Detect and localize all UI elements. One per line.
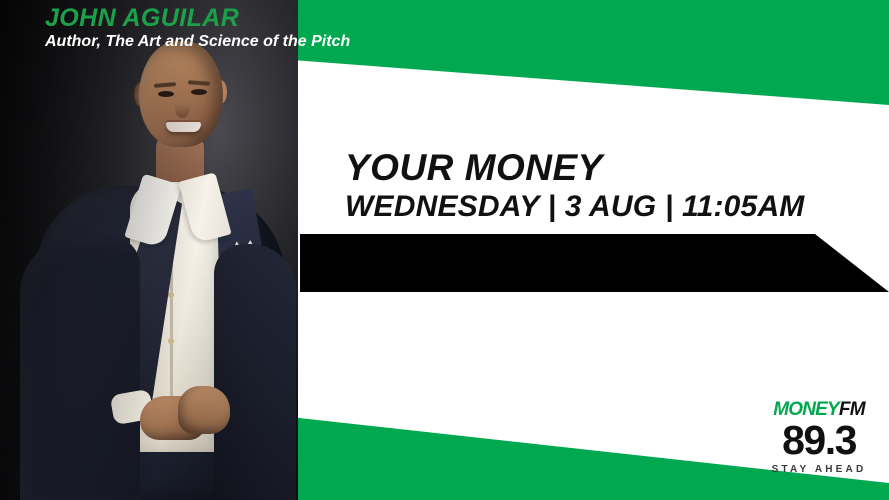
show-schedule: WEDNESDAY | 3 AUG | 11:05AM	[345, 192, 865, 222]
show-title-block: YOUR MONEY WEDNESDAY | 3 AUG | 11:05AM	[345, 149, 865, 222]
logo-frequency: 89.3	[763, 420, 875, 461]
show-title: YOUR MONEY	[345, 149, 865, 186]
guest-portrait-panel	[0, 0, 298, 500]
guest-name-banner	[300, 234, 889, 292]
station-logo: MONEYFM 89.3 STAY AHEAD	[763, 400, 875, 475]
portrait-vignette	[0, 0, 298, 500]
guest-role: Author, The Art and Science of the Pitch	[45, 33, 350, 51]
broadcast-promo-graphic: YOUR MONEY WEDNESDAY | 3 AUG | 11:05AM J…	[0, 0, 889, 500]
logo-tagline: STAY AHEAD	[763, 465, 875, 475]
guest-name: JOHN AGUILAR	[45, 4, 239, 33]
